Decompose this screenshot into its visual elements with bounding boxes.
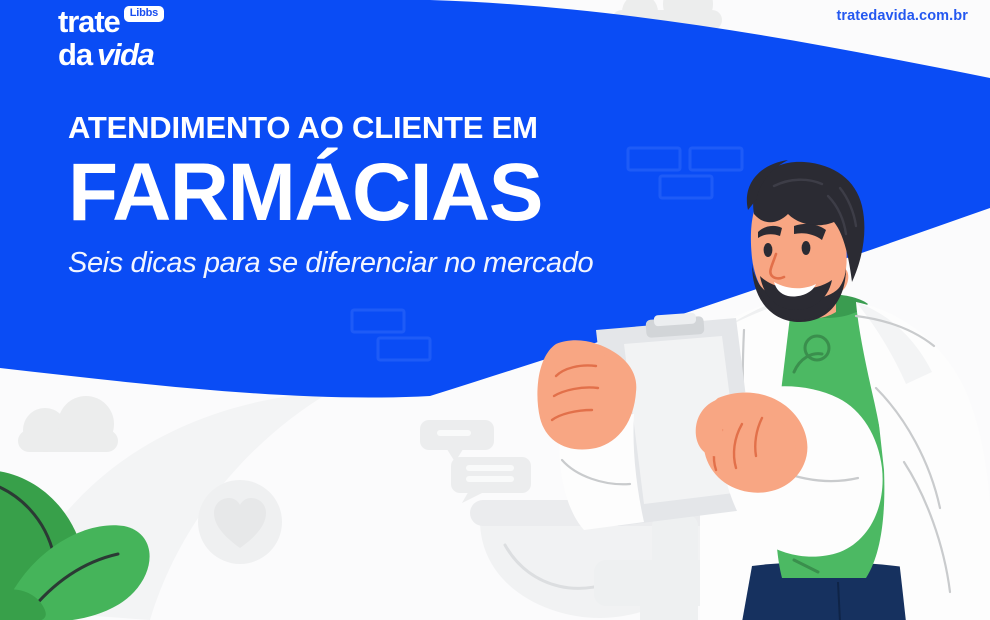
chat-bubble-line-2 (466, 465, 514, 471)
brand-logo-line1: trate Libbs (58, 6, 164, 37)
brand-logo[interactable]: trate Libbs da vida (58, 6, 164, 70)
chat-bubble-line-3 (466, 476, 514, 482)
brand-logo-badge: Libbs (124, 6, 164, 22)
poster-canvas: tratedavida.com.br trate Libbs da vida A… (0, 0, 990, 620)
brand-logo-vida: vida (97, 39, 153, 70)
brand-logo-da: da (58, 39, 92, 70)
hero-kicker: ATENDIMENTO AO CLIENTE EM (68, 112, 593, 143)
hero-subtitle: Seis dicas para se diferenciar no mercad… (68, 249, 593, 278)
hero-headline-block: ATENDIMENTO AO CLIENTE EM FARMÁCIAS Seis… (68, 112, 593, 278)
page-title: FARMÁCIAS (68, 151, 593, 235)
chat-bubble-line-1 (437, 430, 471, 436)
brand-logo-line2: da vida (58, 39, 164, 70)
brand-logo-trate: trate (58, 6, 120, 37)
illustration-artwork (0, 0, 990, 620)
website-url[interactable]: tratedavida.com.br (836, 8, 968, 24)
heart-in-circle (198, 480, 282, 564)
